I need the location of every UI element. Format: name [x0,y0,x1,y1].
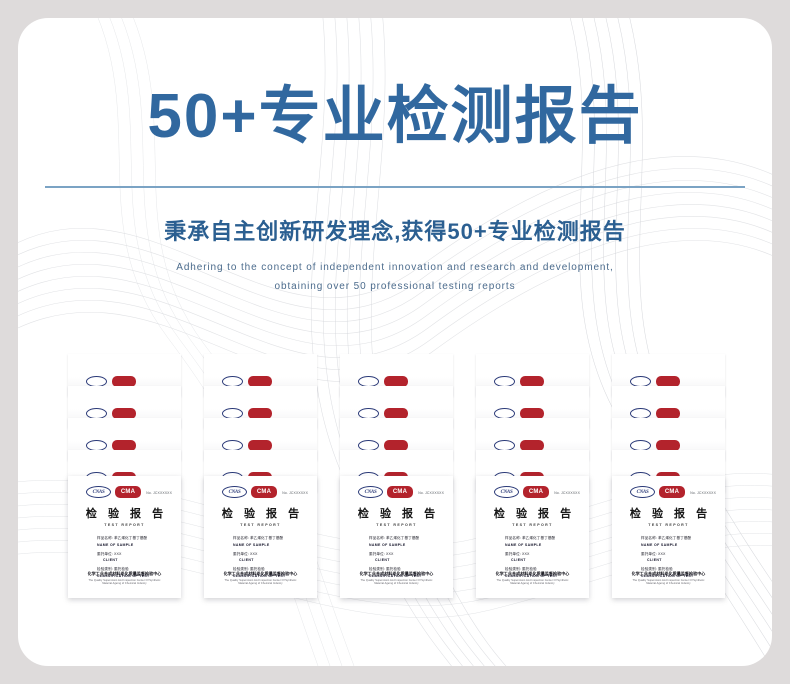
report-number: No. JCXXXXXX [690,491,716,495]
subtitle-chinese: 秉承自主创新研发理念,获得50+专业检测报告 [18,214,772,246]
banner-header: 50+专业检测报告 秉承自主创新研发理念,获得50+专业检测报告 Adherin… [18,18,772,296]
cma-logo-icon: CMA [659,486,685,498]
certificate-front-sheet[interactable]: CNASCMANo. JCXXXXXX检 验 报 告TEST REPORT样品名… [68,476,181,598]
certificate-logo-row: CNASCMANo. JCXXXXXX [621,486,716,499]
certificate-field-label-en: CLIENT [103,558,172,562]
certificate-title-en: TEST REPORT [349,523,444,527]
certificate-front-sheet[interactable]: CNASCMANo. JCXXXXXX检 验 报 告TEST REPORT样品名… [476,476,589,598]
certificate-front-sheet[interactable]: CNASCMANo. JCXXXXXX检 验 报 告TEST REPORT样品名… [204,476,317,598]
certificate-title-cn: 检 验 报 告 [77,505,172,521]
certificate-field: 样品名称: 苯乙烯化丁基丁基酚NAME OF SAMPLE [233,536,308,547]
cnas-logo-icon: CNAS [358,486,383,498]
cnas-logo-icon: CNAS [494,486,519,498]
certificate-gallery: CNASCMANo. JCXXXXXX检 验 报 告TEST REPORT样品名… [18,348,772,618]
certificate-field: 样品名称: 苯乙烯化丁基丁基酚NAME OF SAMPLE [641,536,716,547]
certificate-footer-cn: 化学工业合成材料老化质量监督检验中心 [612,571,725,577]
cnas-logo-icon: CNAS [630,486,655,498]
certificate-field-label-en: NAME OF SAMPLE [369,543,444,547]
page-root: 50+专业检测报告 秉承自主创新研发理念,获得50+专业检测报告 Adherin… [0,0,790,684]
cnas-logo-icon: CNAS [222,486,247,498]
certificate-footer-en: The Quality Supervision And Inspection C… [476,579,589,587]
certificate-field: 委托单位: XXXCLIENT [97,552,172,563]
certificate-footer: 化学工业合成材料老化质量监督检验中心The Quality Supervisio… [68,571,181,586]
certificate-field-label-cn: 委托单位: XXX [641,552,716,557]
certificate-field: 委托单位: XXXCLIENT [369,552,444,563]
certificate-title-en: TEST REPORT [213,523,308,527]
cnas-logo-icon: CNAS [86,486,111,498]
certificate-logo-row: CNASCMANo. JCXXXXXX [77,486,172,499]
cma-logo-icon: CMA [387,486,413,498]
report-number: No. JCXXXXXX [418,491,444,495]
cma-logo-icon: CMA [251,486,277,498]
cma-logo-icon: CMA [523,486,549,498]
certificate-field: 样品名称: 苯乙烯化丁基丁基酚NAME OF SAMPLE [97,536,172,547]
certificate-field-label-cn: 委托单位: XXX [369,552,444,557]
cma-logo-icon: CMA [115,486,141,498]
certificate-logo-row: CNASCMANo. JCXXXXXX [485,486,580,499]
certificate-stack[interactable]: CNASCMANo. JCXXXXXX检 验 报 告TEST REPORT样品名… [612,348,725,598]
certificate-stack[interactable]: CNASCMANo. JCXXXXXX检 验 报 告TEST REPORT样品名… [476,348,589,598]
certificate-title-cn: 检 验 报 告 [485,505,580,521]
certificate-title-cn: 检 验 报 告 [213,505,308,521]
certificate-footer-en: The Quality Supervision And Inspection C… [612,579,725,587]
certificate-footer: 化学工业合成材料老化质量监督检验中心The Quality Supervisio… [476,571,589,586]
certificate-field-label-cn: 样品名称: 苯乙烯化丁基丁基酚 [233,536,308,541]
certificate-field-label-en: CLIENT [375,558,444,562]
title-divider [45,186,745,188]
report-number: No. JCXXXXXX [146,491,172,495]
certificate-footer: 化学工业合成材料老化质量监督检验中心The Quality Supervisio… [340,571,453,586]
certificate-stack[interactable]: CNASCMANo. JCXXXXXX检 验 报 告TEST REPORT样品名… [68,348,181,598]
certificate-field-label-en: CLIENT [511,558,580,562]
certificate-footer-cn: 化学工业合成材料老化质量监督检验中心 [476,571,589,577]
certificate-field-label-cn: 样品名称: 苯乙烯化丁基丁基酚 [97,536,172,541]
certificate-title-en: TEST REPORT [621,523,716,527]
certificate-field-label-cn: 样品名称: 苯乙烯化丁基丁基酚 [505,536,580,541]
certificate-field-label-cn: 委托单位: XXX [97,552,172,557]
certificate-footer: 化学工业合成材料老化质量监督检验中心The Quality Supervisio… [204,571,317,586]
certificate-title-en: TEST REPORT [77,523,172,527]
certificate-footer-cn: 化学工业合成材料老化质量监督检验中心 [68,571,181,577]
certificate-footer-en: The Quality Supervision And Inspection C… [204,579,317,587]
certificate-field: 委托单位: XXXCLIENT [233,552,308,563]
certificate-field-label-en: NAME OF SAMPLE [233,543,308,547]
certificate-title-cn: 检 验 报 告 [621,505,716,521]
certificate-field-label-en: NAME OF SAMPLE [97,543,172,547]
certificate-field-label-en: NAME OF SAMPLE [641,543,716,547]
certificate-front-sheet[interactable]: CNASCMANo. JCXXXXXX检 验 报 告TEST REPORT样品名… [612,476,725,598]
certificate-field-label-en: NAME OF SAMPLE [505,543,580,547]
certificate-field-label-cn: 委托单位: XXX [505,552,580,557]
content-panel: 50+专业检测报告 秉承自主创新研发理念,获得50+专业检测报告 Adherin… [18,18,772,666]
certificate-title-en: TEST REPORT [485,523,580,527]
report-number: No. JCXXXXXX [282,491,308,495]
page-title: 50+专业检测报告 [18,86,772,148]
subtitle-english-line-1: Adhering to the concept of independent i… [18,258,772,277]
certificate-stack[interactable]: CNASCMANo. JCXXXXXX检 验 报 告TEST REPORT样品名… [340,348,453,598]
certificate-field-label-cn: 委托单位: XXX [233,552,308,557]
certificate-footer-en: The Quality Supervision And Inspection C… [340,579,453,587]
certificate-field: 委托单位: XXXCLIENT [505,552,580,563]
certificate-field-label-en: CLIENT [239,558,308,562]
certificate-footer-cn: 化学工业合成材料老化质量监督检验中心 [204,571,317,577]
certificate-front-sheet[interactable]: CNASCMANo. JCXXXXXX检 验 报 告TEST REPORT样品名… [340,476,453,598]
report-number: No. JCXXXXXX [554,491,580,495]
certificate-footer-en: The Quality Supervision And Inspection C… [68,579,181,587]
certificate-field-label-cn: 样品名称: 苯乙烯化丁基丁基酚 [369,536,444,541]
certificate-field-label-cn: 样品名称: 苯乙烯化丁基丁基酚 [641,536,716,541]
certificate-field: 样品名称: 苯乙烯化丁基丁基酚NAME OF SAMPLE [505,536,580,547]
subtitle-english: Adhering to the concept of independent i… [18,258,772,296]
certificate-footer-cn: 化学工业合成材料老化质量监督检验中心 [340,571,453,577]
certificate-field: 样品名称: 苯乙烯化丁基丁基酚NAME OF SAMPLE [369,536,444,547]
certificate-title-cn: 检 验 报 告 [349,505,444,521]
certificate-stack[interactable]: CNASCMANo. JCXXXXXX检 验 报 告TEST REPORT样品名… [204,348,317,598]
certificate-footer: 化学工业合成材料老化质量监督检验中心The Quality Supervisio… [612,571,725,586]
certificate-logo-row: CNASCMANo. JCXXXXXX [349,486,444,499]
certificate-field-label-en: CLIENT [647,558,716,562]
subtitle-english-line-2: obtaining over 50 professional testing r… [18,277,772,296]
certificate-field: 委托单位: XXXCLIENT [641,552,716,563]
certificate-logo-row: CNASCMANo. JCXXXXXX [213,486,308,499]
